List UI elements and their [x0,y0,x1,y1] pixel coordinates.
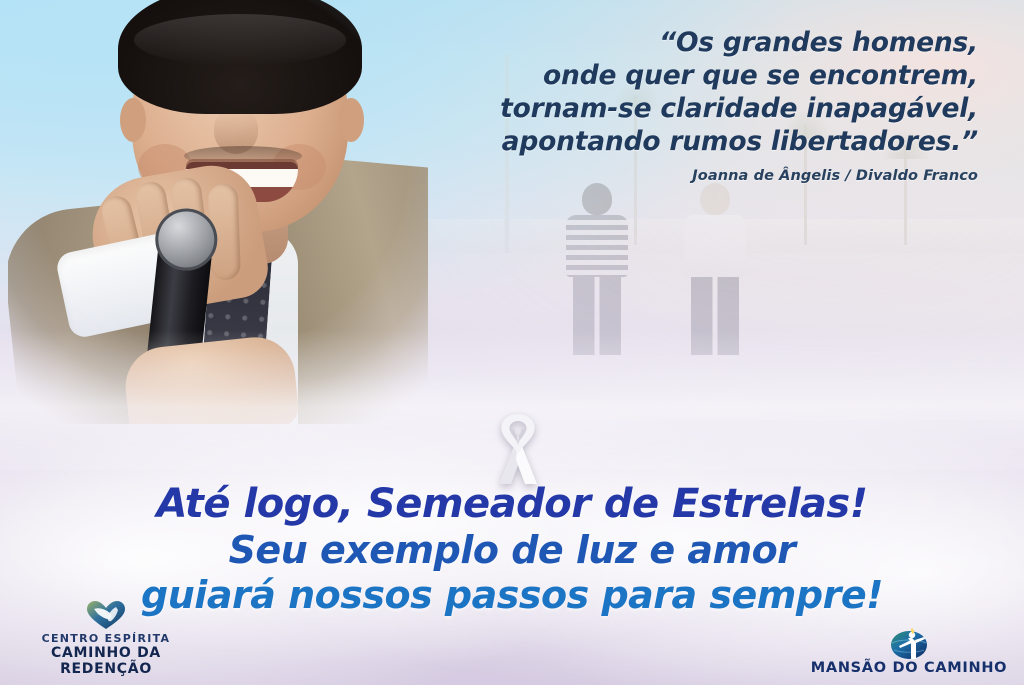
ear-left [120,98,146,142]
quote-line-2: onde quer que se encontrem, [438,59,978,92]
logo-left-line-2: CAMINHO DA REDENÇÃO [6,645,206,677]
logo-left-line-1: CENTRO ESPÍRITA [6,632,206,645]
photo-person-white-shirt [684,183,746,355]
hands-heart-icon [6,598,206,632]
headline-block: Até logo, Semeador de Estrelas! Seu exem… [0,484,1024,614]
headline-line-1: Até logo, Semeador de Estrelas! [0,484,1024,524]
headline-line-2: Seu exemplo de luz e amor [0,531,1024,569]
quote-line-3: tornam-se claridade inapagável, [438,92,978,125]
hand-holding-microphone [122,333,301,442]
quote-line-1: “Os grandes homens, [438,26,978,59]
logo-mansao-do-caminho: MANSÃO DO CAMINHO [802,626,1016,677]
ear-right [338,98,364,142]
quote-block: “Os grandes homens, onde quer que se enc… [438,26,978,184]
hair [118,0,362,114]
portrait-divaldo-franco [8,0,428,424]
globe-figure-icon [802,626,1016,660]
quote-line-4: apontando rumos libertadores.” [438,125,978,158]
logo-centro-espirita: CENTRO ESPÍRITA CAMINHO DA REDENÇÃO [6,598,206,677]
quote-attribution: Joanna de Ângelis / Divaldo Franco [438,168,978,184]
logo-right-line-1: MANSÃO DO CAMINHO [802,660,1016,677]
tribute-poster: “Os grandes homens, onde quer que se enc… [0,0,1024,685]
mourning-ribbon-icon [489,410,547,486]
photo-person-striped-shirt [566,183,628,355]
